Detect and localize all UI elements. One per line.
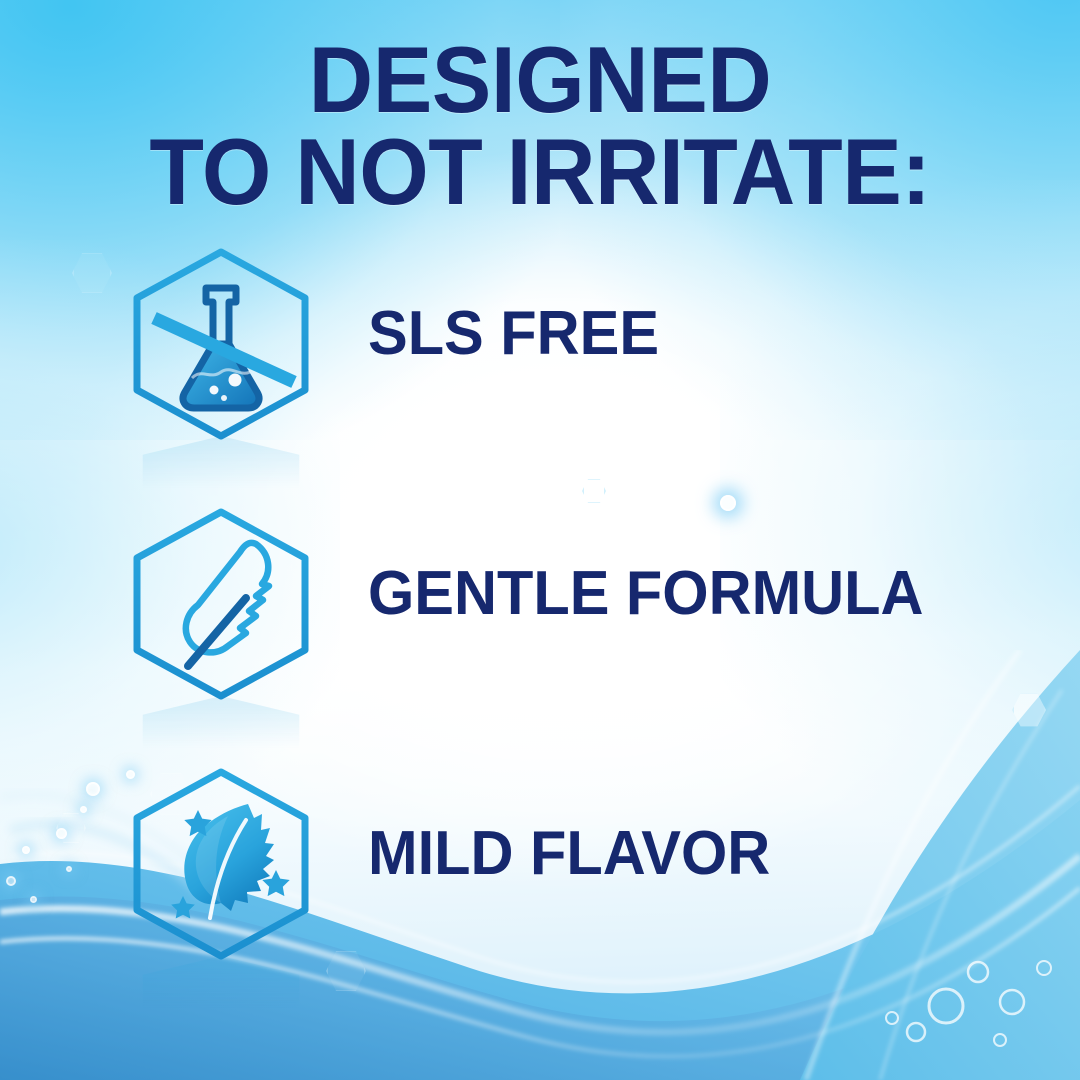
headline-line-1: DESIGNED <box>27 34 1053 126</box>
feature-label-gentle-formula: GENTLE FORMULA <box>368 558 923 629</box>
feature-item-sls-free: SLS FREE <box>0 246 1080 506</box>
feature-label-mild-flavor: MILD FLAVOR <box>368 818 770 889</box>
promo-graphic: DESIGNED TO NOT IRRITATE: <box>0 0 1080 1080</box>
feather-icon <box>128 506 314 702</box>
headline-line-2: TO NOT IRRITATE: <box>27 126 1053 218</box>
mint-leaf-icon <box>128 766 314 962</box>
hexagon-reflection <box>134 956 308 1028</box>
feature-item-gentle-formula: GENTLE FORMULA <box>0 506 1080 766</box>
page-title: DESIGNED TO NOT IRRITATE: <box>27 34 1053 218</box>
feature-list: SLS FREE <box>0 246 1080 1026</box>
hexagon-reflection <box>134 436 308 508</box>
feature-label-sls-free: SLS FREE <box>368 298 659 369</box>
hexagon-reflection <box>134 696 308 768</box>
no-flask-icon <box>128 246 314 442</box>
feature-item-mild-flavor: MILD FLAVOR <box>0 766 1080 1026</box>
